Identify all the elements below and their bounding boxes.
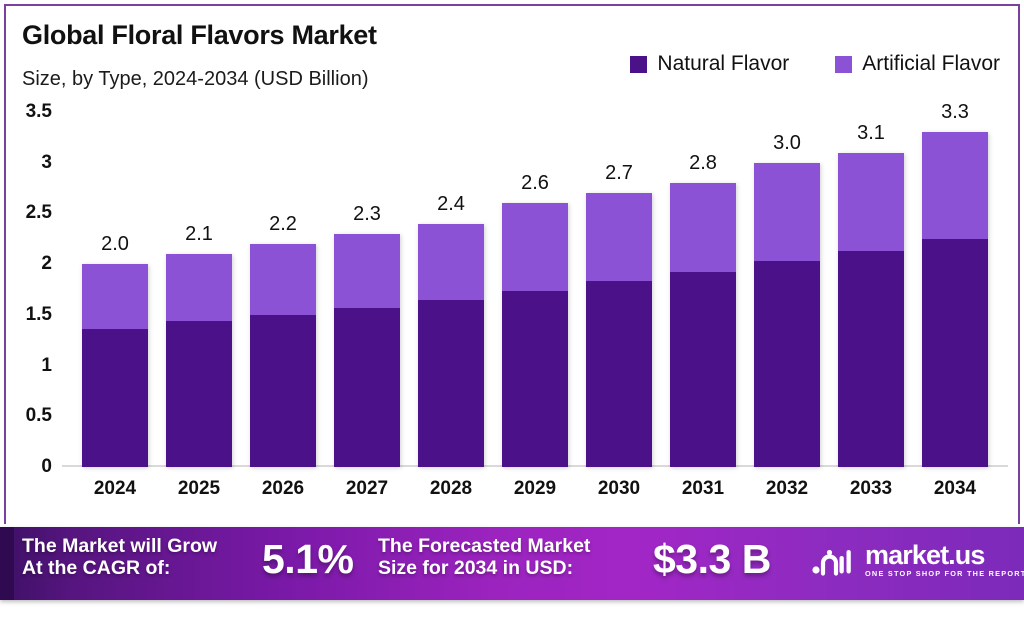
y-tick-label: 0	[41, 456, 52, 478]
bar-group[interactable]: 2.8	[670, 112, 736, 467]
bar-segment-artificial[interactable]	[586, 193, 652, 281]
bar-value-label: 3.1	[857, 122, 885, 145]
x-axis-label: 2025	[166, 478, 232, 500]
logo-text: market.us ONE STOP SHOP FOR THE REPORTS	[865, 542, 1024, 577]
y-tick-label: 1	[41, 355, 52, 377]
bar-group[interactable]: 2.6	[502, 112, 568, 467]
bar-segment-natural[interactable]	[334, 308, 400, 467]
bar-segment-artificial[interactable]	[502, 203, 568, 290]
plot-area: 00.511.522.533.5 2.02.12.22.32.42.62.72.…	[62, 112, 1008, 467]
page-title: Global Floral Flavors Market	[22, 20, 377, 51]
bar-value-label: 2.8	[689, 152, 717, 175]
x-axis-label: 2027	[334, 478, 400, 500]
bar-value-label: 2.2	[269, 213, 297, 236]
bar-stack[interactable]	[502, 203, 568, 467]
bar-segment-artificial[interactable]	[754, 163, 820, 261]
legend-swatch-artificial-icon	[835, 56, 852, 73]
bar-group[interactable]: 2.4	[418, 112, 484, 467]
bar-segment-natural[interactable]	[670, 272, 736, 467]
x-axis-label: 2029	[502, 478, 568, 500]
bar-segment-artificial[interactable]	[838, 153, 904, 251]
chart-legend: Natural FlavorArtificial Flavor	[630, 52, 1000, 76]
bar-group[interactable]: 2.2	[250, 112, 316, 467]
bar-segment-natural[interactable]	[418, 300, 484, 467]
bar-group[interactable]: 2.0	[82, 112, 148, 467]
legend-label-natural: Natural Flavor	[657, 52, 789, 76]
bar-stack[interactable]	[670, 183, 736, 467]
bar-segment-natural[interactable]	[922, 239, 988, 467]
bar-group[interactable]: 2.1	[166, 112, 232, 467]
y-tick-label: 0.5	[26, 405, 52, 427]
bar-segment-natural[interactable]	[166, 321, 232, 467]
bar-segment-artificial[interactable]	[418, 224, 484, 300]
bar-stack[interactable]	[586, 193, 652, 467]
bar-segment-artificial[interactable]	[166, 254, 232, 321]
bar-stack[interactable]	[754, 163, 820, 467]
bar-segment-artificial[interactable]	[334, 234, 400, 308]
legend-item-natural[interactable]: Natural Flavor	[630, 52, 789, 76]
bar-group[interactable]: 3.3	[922, 112, 988, 467]
bar-segment-artificial[interactable]	[922, 132, 988, 239]
bar-stack[interactable]	[838, 153, 904, 467]
bar-segment-natural[interactable]	[586, 281, 652, 467]
y-tick-label: 3	[41, 152, 52, 174]
bar-stack[interactable]	[166, 254, 232, 467]
logo-tagline: ONE STOP SHOP FOR THE REPORTS	[865, 570, 1024, 577]
y-tick-label: 2	[41, 253, 52, 275]
bar-group[interactable]: 3.1	[838, 112, 904, 467]
bar-stack[interactable]	[82, 264, 148, 467]
market-us-logo-mark-icon	[812, 544, 856, 576]
bar-stack[interactable]	[250, 244, 316, 467]
cagr-value: 5.1%	[262, 536, 353, 583]
y-tick-label: 1.5	[26, 304, 52, 326]
cagr-label-line1: The Market will Grow	[22, 536, 217, 558]
y-tick-label: 2.5	[26, 202, 52, 224]
bar-group[interactable]: 2.7	[586, 112, 652, 467]
forecast-label: The Forecasted Market Size for 2034 in U…	[378, 536, 590, 580]
cagr-label: The Market will Grow At the CAGR of:	[22, 536, 217, 580]
page-subtitle: Size, by Type, 2024-2034 (USD Billion)	[22, 68, 368, 91]
x-axis-label: 2024	[82, 478, 148, 500]
bar-group[interactable]: 3.0	[754, 112, 820, 467]
logo-wordmark: market.us	[865, 542, 1024, 569]
bar-segment-natural[interactable]	[754, 261, 820, 467]
x-axis-labels: 2024202520262027202820292030203120322033…	[62, 478, 1008, 500]
bar-segment-natural[interactable]	[250, 315, 316, 467]
bar-value-label: 2.3	[353, 203, 381, 226]
banner-left-edge	[0, 527, 14, 600]
x-axis-label: 2030	[586, 478, 652, 500]
x-axis-label: 2032	[754, 478, 820, 500]
bar-value-label: 2.4	[437, 193, 465, 216]
brand-logo[interactable]: market.us ONE STOP SHOP FOR THE REPORTS	[812, 542, 1024, 577]
bar-stack[interactable]	[334, 234, 400, 467]
x-axis-label: 2028	[418, 478, 484, 500]
bar-value-label: 2.7	[605, 162, 633, 185]
legend-swatch-natural-icon	[630, 56, 647, 73]
bar-value-label: 2.0	[101, 233, 129, 256]
x-axis-label: 2026	[250, 478, 316, 500]
infographic-root: Global Floral Flavors Market Size, by Ty…	[0, 0, 1024, 620]
bar-value-label: 3.3	[941, 101, 969, 124]
forecast-label-line1: The Forecasted Market	[378, 536, 590, 558]
bar-series-container: 2.02.12.22.32.42.62.72.83.03.13.3	[62, 112, 1008, 467]
bar-segment-artificial[interactable]	[82, 264, 148, 329]
bar-segment-artificial[interactable]	[670, 183, 736, 272]
x-axis-label: 2033	[838, 478, 904, 500]
bar-stack[interactable]	[418, 224, 484, 467]
legend-item-artificial[interactable]: Artificial Flavor	[835, 52, 1000, 76]
y-tick-label: 3.5	[26, 101, 52, 123]
bar-stack[interactable]	[922, 132, 988, 467]
bar-value-label: 3.0	[773, 132, 801, 155]
bar-value-label: 2.6	[521, 172, 549, 195]
forecast-value: $3.3 B	[653, 536, 771, 583]
x-axis-label: 2031	[670, 478, 736, 500]
forecast-label-line2: Size for 2034 in USD:	[378, 558, 590, 580]
x-axis-label: 2034	[922, 478, 988, 500]
bar-group[interactable]: 2.3	[334, 112, 400, 467]
cagr-label-line2: At the CAGR of:	[22, 558, 217, 580]
bar-value-label: 2.1	[185, 223, 213, 246]
bar-segment-artificial[interactable]	[250, 244, 316, 315]
bar-segment-natural[interactable]	[82, 329, 148, 467]
legend-label-artificial: Artificial Flavor	[862, 52, 1000, 76]
bar-segment-natural[interactable]	[838, 251, 904, 467]
bar-segment-natural[interactable]	[502, 291, 568, 467]
